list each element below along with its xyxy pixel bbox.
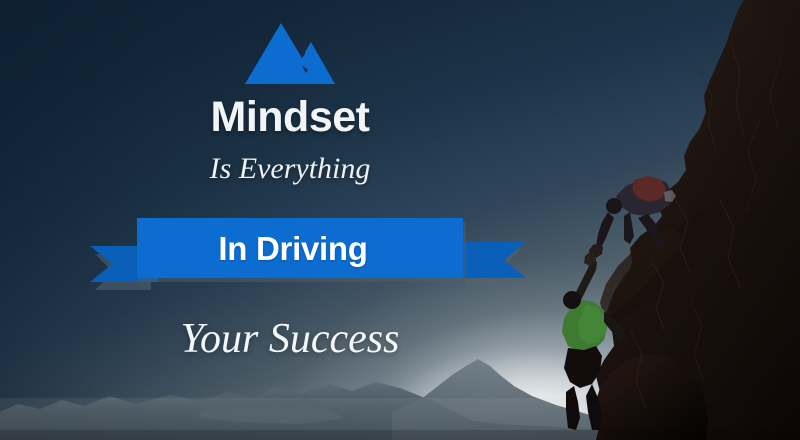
ribbon-label: In Driving (137, 222, 449, 276)
subtitle: Is Everything (0, 154, 580, 184)
poster-text-block: Mindset Is Everything In Driving Your Su… (0, 0, 580, 440)
brand-logo (242, 18, 338, 86)
page-title: Mindset (0, 96, 580, 139)
mountain-peaks-icon (242, 18, 338, 86)
ribbon-tail-right (458, 242, 526, 278)
footer-tagline: Your Success (0, 318, 580, 360)
motivational-poster: Mindset Is Everything In Driving Your Su… (0, 0, 800, 440)
